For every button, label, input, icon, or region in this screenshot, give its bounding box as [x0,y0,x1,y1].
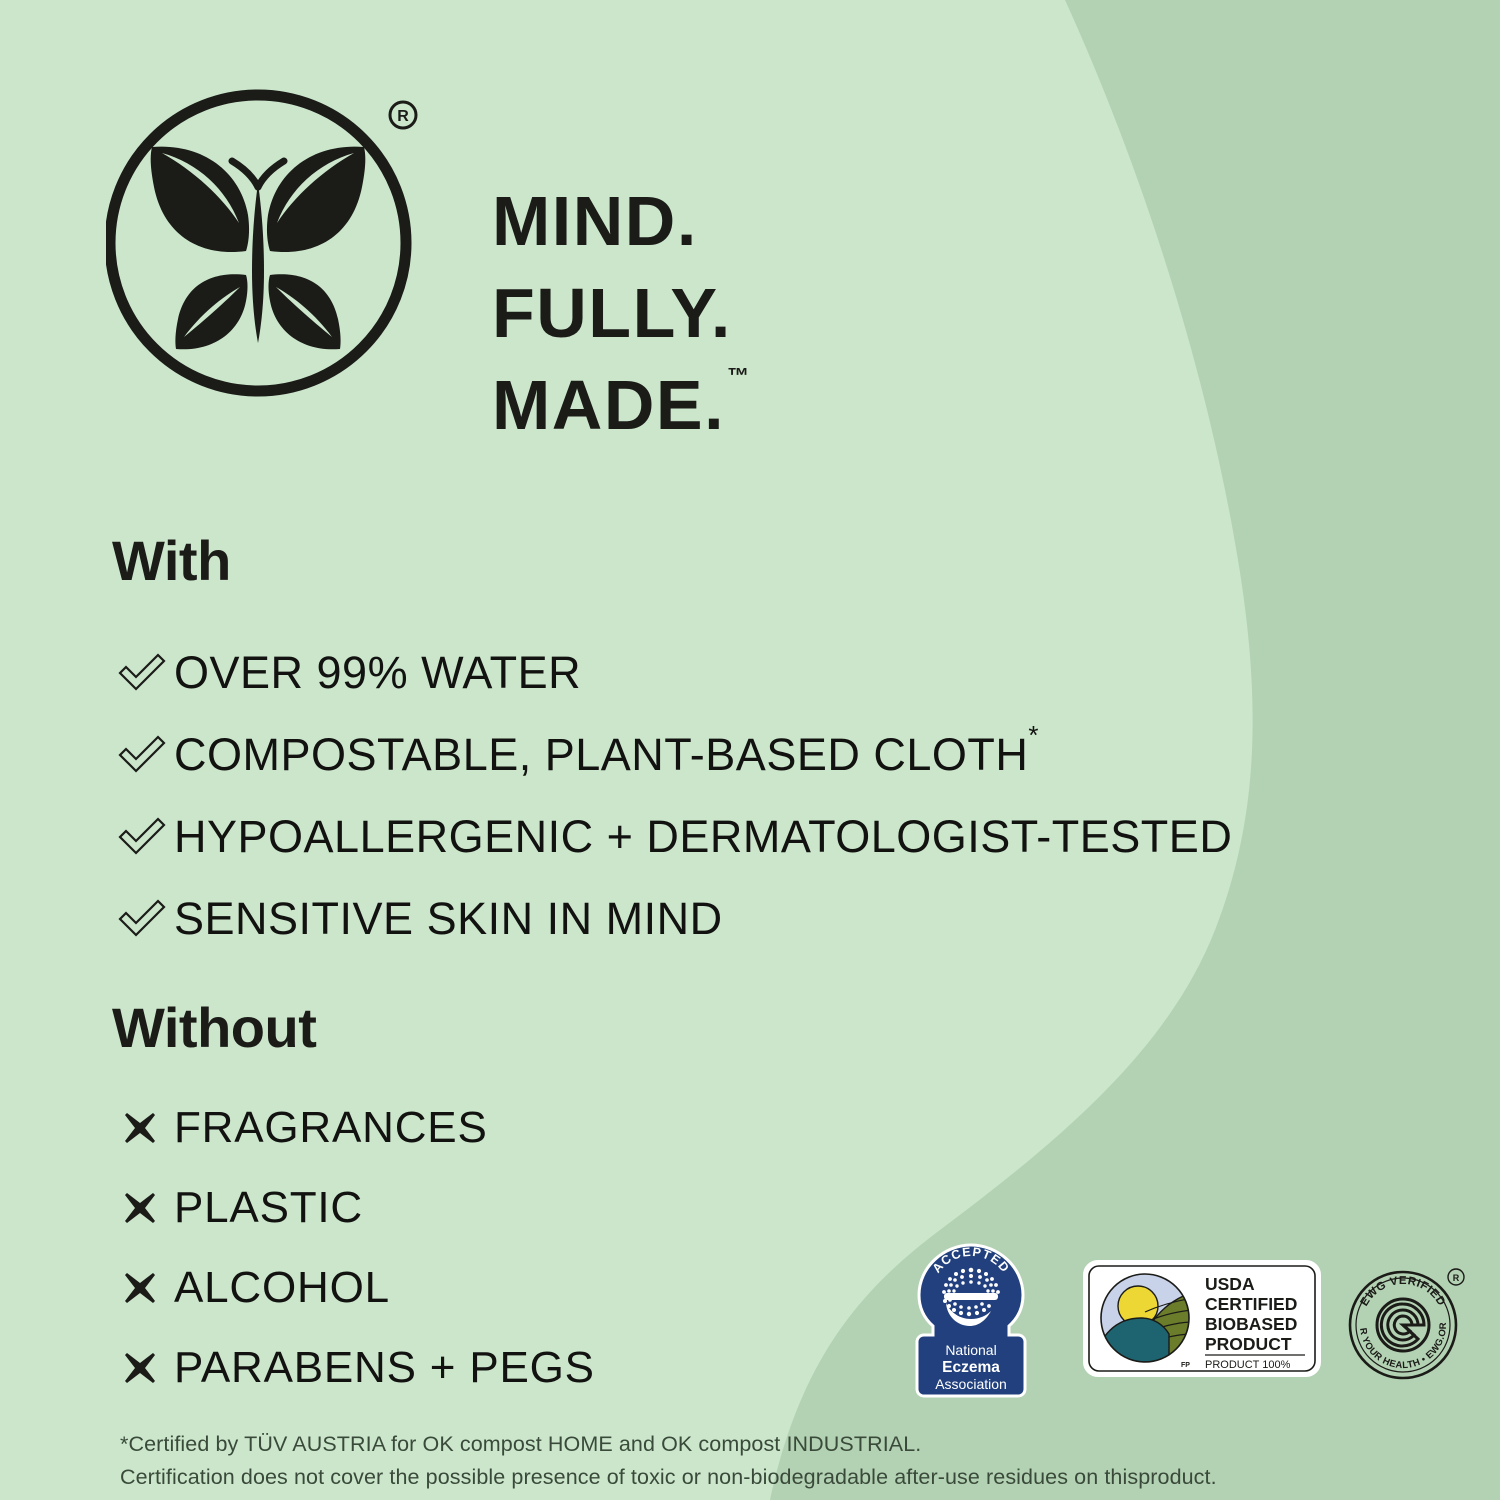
without-list: FRAGRANCES PLASTIC ALCOHOL [118,1088,595,1408]
nea-line-1: National [945,1342,996,1358]
usda-line-3: BIOBASED [1205,1314,1297,1334]
list-item-label: FRAGRANCES [174,1103,488,1153]
list-item: COMPOSTABLE, PLANT-BASED CLOTH* [118,714,1232,796]
usda-corner-mark: FP [1181,1362,1190,1369]
footnote-line-2: Certification does not cover the possibl… [120,1461,1420,1494]
ewg-verified-badge: EWG VERIFIED FOR YOUR HEALTH • EWG.ORG R [1343,1260,1473,1385]
brand-logo-lockup: R MIND. FULLY. MADE.™ [106,70,846,420]
certification-badge-row: ACCEPTED [915,1243,1475,1403]
wordmark-line-1: MIND. [492,186,698,256]
footnote-line-1: *Certified by TÜV AUSTRIA for OK compost… [120,1428,1420,1461]
with-section-heading: With [112,528,231,593]
footnote: *Certified by TÜV AUSTRIA for OK compost… [120,1428,1420,1493]
wordmark-line-3: MADE.™ [492,370,747,440]
wordmark-line-2: FULLY. [492,278,732,348]
check-outline-icon [118,653,174,693]
list-item: HYPOALLERGENIC + DERMATOLOGIST-TESTED [118,796,1232,878]
without-section-heading: Without [112,995,316,1060]
nea-line-2: Eczema [942,1359,1000,1376]
list-item-label: ALCOHOL [174,1263,390,1313]
ewg-registered-mark: R [1453,1273,1460,1283]
usda-sub: PRODUCT 100% [1205,1359,1291,1371]
list-item: FRAGRANCES [118,1088,595,1168]
list-item-label: PARABENS + PEGS [174,1343,595,1393]
usda-line-2: CERTIFIED [1205,1294,1297,1314]
list-item-label: HYPOALLERGENIC + DERMATOLOGIST-TESTED [174,811,1232,863]
list-item: SENSITIVE SKIN IN MIND [118,878,1232,960]
check-outline-icon [118,735,174,775]
wordmark-line-3-text: MADE. [492,366,725,444]
trademark-mark: ™ [727,363,749,388]
usda-certified-biobased-product-badge: FP USDA CERTIFIED BIOBASED PRODUCT PRODU… [1083,1260,1321,1377]
usda-line-1: USDA [1205,1274,1255,1294]
check-outline-icon [118,899,174,939]
list-item: PLASTIC [118,1168,595,1248]
list-item: PARABENS + PEGS [118,1328,595,1408]
list-item-label: OVER 99% WATER [174,647,581,699]
cross-icon [118,1190,174,1226]
svg-text:R: R [397,108,409,125]
list-item-label: COMPOSTABLE, PLANT-BASED CLOTH* [174,729,1039,781]
infographic-canvas: R MIND. FULLY. MADE.™ With OVER 99% WATE… [0,0,1500,1500]
usda-line-4: PRODUCT [1205,1334,1292,1354]
list-item-label: PLASTIC [174,1183,363,1233]
cross-icon [118,1110,174,1146]
nea-line-3: Association [935,1376,1007,1392]
cross-icon [118,1270,174,1306]
butterfly-in-circle-icon: R [106,75,426,405]
list-item-label: SENSITIVE SKIN IN MIND [174,893,723,945]
list-item: ALCOHOL [118,1248,595,1328]
list-item: OVER 99% WATER [118,632,1232,714]
with-list: OVER 99% WATER COMPOSTABLE, PLANT-BASED … [118,632,1232,960]
cross-icon [118,1350,174,1386]
brand-wordmark: MIND. FULLY. MADE.™ [492,88,842,398]
concentric-e-icon [1377,1299,1429,1351]
national-eczema-association-badge: ACCEPTED [915,1243,1027,1398]
check-outline-icon [118,817,174,857]
